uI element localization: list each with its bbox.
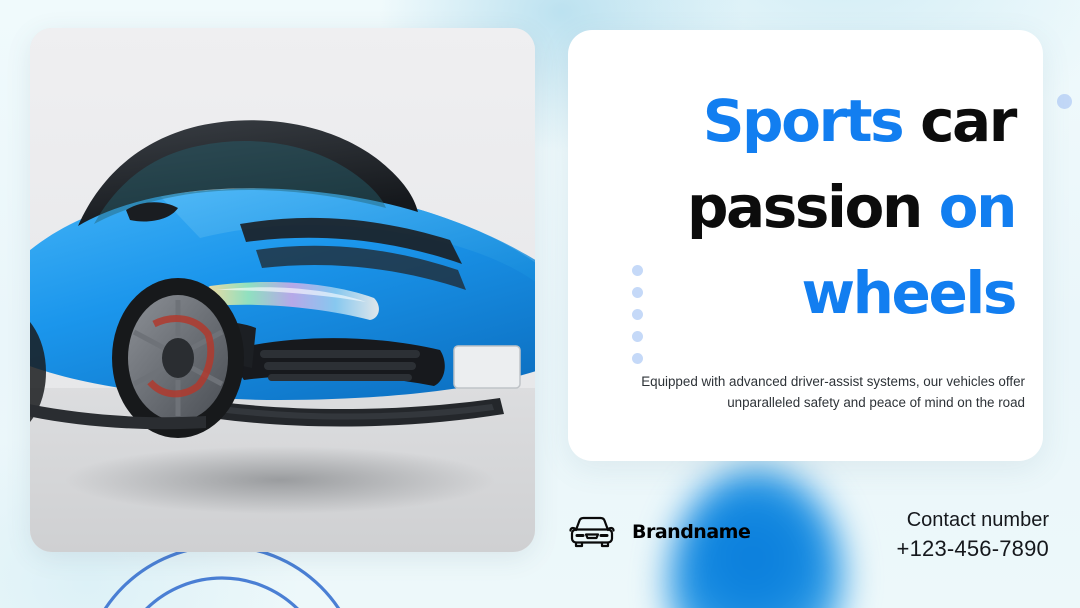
- brand-name: Brandname: [632, 521, 750, 543]
- content-card: Sports car passion on wheels Equipped wi…: [568, 30, 1043, 461]
- brand-block[interactable]: Brandname: [564, 513, 750, 551]
- body-copy: Equipped with advanced driver-assist sys…: [616, 371, 1025, 413]
- decorative-dot-column: [632, 265, 643, 364]
- headline-word-wheels: wheels: [801, 259, 1015, 327]
- decorative-dot-icon: [632, 331, 643, 342]
- contact-label: Contact number: [897, 506, 1049, 534]
- decorative-dot-icon: [632, 265, 643, 276]
- car-illustration: [30, 28, 535, 552]
- decorative-dot-icon: [632, 287, 643, 298]
- contact-number[interactable]: +123-456-7890: [897, 534, 1049, 564]
- headline-word-on: on: [939, 173, 1015, 241]
- decorative-dot-icon: [632, 309, 643, 320]
- headline-word-car: car: [902, 87, 1015, 155]
- decorative-dot-icon: [1057, 94, 1072, 109]
- hero-car-photo: [30, 28, 535, 552]
- headline-word-sports: Sports: [703, 87, 903, 155]
- headline-word-passion: passion: [687, 173, 939, 241]
- decorative-dot-icon: [632, 353, 643, 364]
- car-front-icon: [564, 513, 620, 551]
- page-title: Sports car passion on wheels: [596, 78, 1015, 336]
- contact-block: Contact number +123-456-7890: [897, 506, 1049, 564]
